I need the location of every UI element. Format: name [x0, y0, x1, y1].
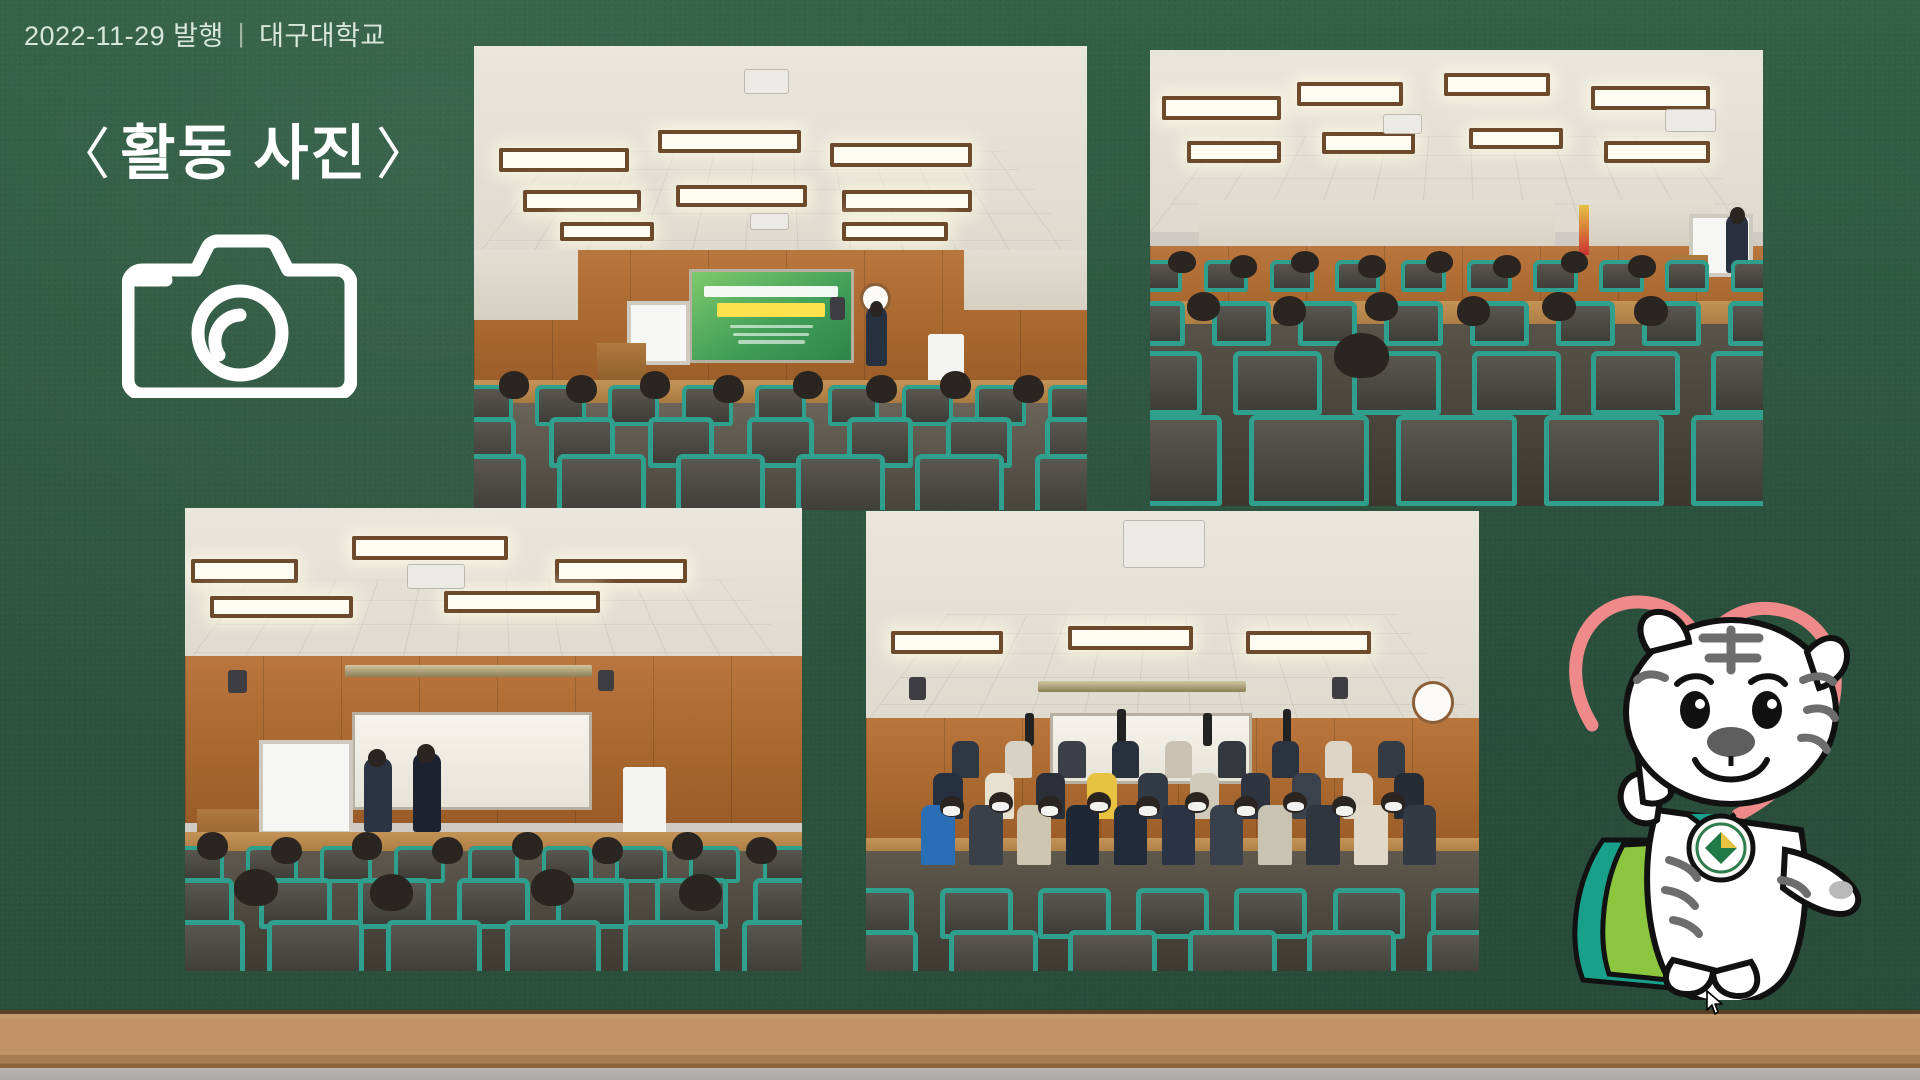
chalkboard-ledge [0, 1010, 1920, 1068]
title-close-bracket: 〉 [368, 123, 442, 186]
photo-lecture-hall-front[interactable] [474, 46, 1087, 510]
mouse-cursor [1706, 990, 1724, 1016]
header-meta: 2022-11-29 발행 | 대구대학교 [24, 14, 386, 53]
publish-date: 2022-11-29 발행 [24, 14, 224, 53]
tiger-eye-right [1752, 691, 1782, 729]
photo-panel-talk[interactable] [185, 508, 802, 971]
photo-group-photo[interactable] [866, 511, 1479, 971]
photo-audience-side[interactable] [1150, 50, 1763, 506]
header-separator: | [238, 18, 245, 49]
tiger-eye-left [1680, 691, 1710, 729]
organization-name: 대구대학교 [259, 14, 386, 53]
camera-icon [122, 228, 357, 398]
tiger-nose [1707, 727, 1755, 757]
title-text: 활동 사진 [120, 120, 367, 187]
slide-root: 2022-11-29 발행 | 대구대학교 〈활동 사진〉 [0, 0, 1920, 1080]
page-title: 〈활동 사진〉 [34, 105, 454, 192]
wall-below-board [0, 1068, 1920, 1080]
tiger-right-pawpad [1829, 881, 1853, 899]
title-open-bracket: 〈 [46, 123, 120, 186]
tiger-mascot [1545, 560, 1905, 1000]
